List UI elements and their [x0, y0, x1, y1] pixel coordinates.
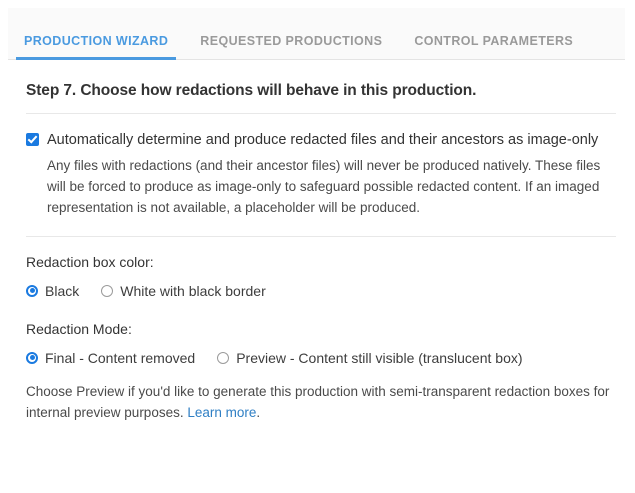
learn-more-link[interactable]: Learn more	[187, 405, 256, 420]
auto-image-only-row: Automatically determine and produce reda…	[26, 130, 625, 150]
tab-production-wizard-label: PRODUCTION WIZARD	[24, 34, 168, 48]
radio-option-preview[interactable]: Preview - Content still visible (translu…	[217, 350, 522, 366]
footnote-tail: .	[256, 405, 260, 420]
tab-control-parameters-label: CONTROL PARAMETERS	[414, 34, 573, 48]
radio-black-indicator[interactable]	[26, 285, 38, 297]
auto-image-only-checkbox[interactable]	[26, 133, 39, 146]
radio-option-white-with-black-border[interactable]: White with black border	[101, 283, 266, 299]
tab-requested-productions-label: REQUESTED PRODUCTIONS	[200, 34, 382, 48]
radio-final-indicator[interactable]	[26, 352, 38, 364]
tab-list: PRODUCTION WIZARD REQUESTED PRODUCTIONS …	[8, 8, 589, 59]
redaction-mode-label: Redaction Mode:	[26, 321, 625, 337]
radio-option-black[interactable]: Black	[26, 283, 79, 299]
redaction-box-color-group: Redaction box color: Black White with bl…	[26, 254, 625, 299]
radio-white-border-indicator[interactable]	[101, 285, 113, 297]
redaction-mode-footnote: Choose Preview if you'd like to generate…	[26, 382, 618, 424]
auto-image-only-help-text: Any files with redactions (and their anc…	[47, 156, 617, 219]
footnote-text: Choose Preview if you'd like to generate…	[26, 384, 609, 420]
radio-black-label: Black	[45, 283, 79, 299]
radio-preview-label: Preview - Content still visible (translu…	[236, 350, 522, 366]
redaction-box-color-label: Redaction box color:	[26, 254, 625, 270]
radio-preview-indicator[interactable]	[217, 352, 229, 364]
wizard-step-content: Step 7. Choose how redactions will behav…	[0, 60, 635, 493]
tab-control-parameters[interactable]: CONTROL PARAMETERS	[398, 35, 589, 60]
production-wizard-panel: PRODUCTION WIZARD REQUESTED PRODUCTIONS …	[0, 0, 635, 493]
tab-requested-productions[interactable]: REQUESTED PRODUCTIONS	[184, 35, 398, 60]
divider-middle	[26, 236, 616, 237]
divider-top	[26, 113, 616, 114]
radio-option-final[interactable]: Final - Content removed	[26, 350, 195, 366]
tab-production-wizard[interactable]: PRODUCTION WIZARD	[8, 35, 184, 60]
tab-bar: PRODUCTION WIZARD REQUESTED PRODUCTIONS …	[8, 8, 625, 60]
auto-image-only-label[interactable]: Automatically determine and produce reda…	[47, 130, 598, 150]
redaction-mode-group: Redaction Mode: Final - Content removed …	[26, 321, 625, 424]
redaction-mode-options: Final - Content removed Preview - Conten…	[26, 350, 625, 366]
radio-final-label: Final - Content removed	[45, 350, 195, 366]
radio-white-border-label: White with black border	[120, 283, 266, 299]
redaction-box-color-options: Black White with black border	[26, 283, 625, 299]
step-title: Step 7. Choose how redactions will behav…	[26, 82, 625, 100]
